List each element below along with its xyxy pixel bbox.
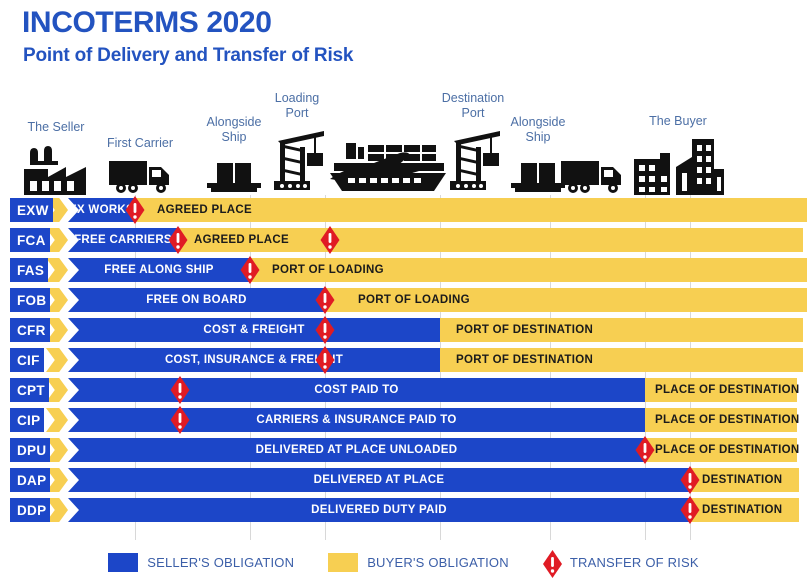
truck-icon bbox=[559, 155, 625, 195]
incoterm-row[interactable]: DDPDESTINATIONDELIVERED DUTY PAID bbox=[0, 495, 807, 525]
journey-node-label: AlongsideShip bbox=[203, 115, 265, 145]
incoterm-code: DDP bbox=[10, 498, 50, 522]
incoterm-row[interactable]: FCAAGREED PLACEFREE CARRIERS bbox=[0, 225, 807, 255]
transfer-of-risk-icon bbox=[321, 226, 340, 254]
buyer-obligation-segment: AGREED PLACE bbox=[178, 228, 803, 252]
dock-cargo-icon bbox=[203, 149, 265, 195]
incoterm-bar: PORT OF DESTINATIONCOST & FREIGHT bbox=[0, 318, 807, 342]
journey-node-label: AlongsideShip bbox=[507, 115, 569, 145]
incoterm-row[interactable]: DAPDESTINATIONDELIVERED AT PLACE bbox=[0, 465, 807, 495]
incoterm-code: CFR bbox=[10, 318, 50, 342]
journey-node bbox=[559, 155, 625, 195]
transfer-of-risk-icon bbox=[169, 226, 188, 254]
transfer-of-risk-icon bbox=[681, 496, 700, 524]
seller-segment-label: EX WORKS bbox=[69, 204, 134, 216]
legend-color-swatch bbox=[108, 553, 138, 572]
seller-obligation-segment: CARRIERS & INSURANCE PAID TO bbox=[68, 408, 645, 432]
buyer-segment-label: DESTINATION bbox=[702, 474, 782, 486]
buyer-obligation-segment: PLACE OF DESTINATION bbox=[645, 438, 797, 462]
buyer-segment-label: AGREED PLACE bbox=[157, 204, 252, 216]
seller-obligation-segment: COST PAID TO bbox=[68, 378, 645, 402]
journey-node-label: DestinationPort bbox=[438, 91, 508, 121]
incoterm-code: DAP bbox=[10, 468, 50, 492]
incoterm-bar: PLACE OF DESTINATIONCARRIERS & INSURANCE… bbox=[0, 408, 807, 432]
transfer-of-risk-icon bbox=[171, 406, 190, 434]
legend-item: BUYER'S OBLIGATION bbox=[328, 553, 509, 572]
container-ship-icon bbox=[328, 137, 448, 195]
transfer-of-risk-icon bbox=[316, 346, 335, 374]
truck-icon bbox=[107, 155, 173, 195]
incoterm-row[interactable]: FASPORT OF LOADINGFREE ALONG SHIP bbox=[0, 255, 807, 285]
buyer-segment-label: PLACE OF DESTINATION bbox=[655, 414, 799, 426]
journey-node: DestinationPort bbox=[438, 91, 508, 195]
legend: SELLER'S OBLIGATIONBUYER'S OBLIGATION TR… bbox=[0, 548, 807, 576]
incoterm-code: CIF bbox=[10, 348, 44, 372]
seller-obligation-segment: DELIVERED AT PLACE bbox=[68, 468, 690, 492]
seller-segment-label: FREE ON BOARD bbox=[146, 294, 246, 306]
incoterm-row[interactable]: FOBPORT OF LOADINGFREE ON BOARD bbox=[0, 285, 807, 315]
legend-item: TRANSFER OF RISK bbox=[543, 550, 699, 574]
incoterm-code: DPU bbox=[10, 438, 50, 462]
seller-obligation-segment: COST & FREIGHT bbox=[68, 318, 440, 342]
seller-obligation-segment: FREE ON BOARD bbox=[68, 288, 325, 312]
seller-obligation-segment: FREE ALONG SHIP bbox=[68, 258, 250, 282]
port-crane-icon bbox=[438, 125, 508, 195]
incoterm-bar: AGREED PLACEEX WORKS bbox=[0, 198, 807, 222]
journey-node-label: The Buyer bbox=[630, 114, 726, 129]
incoterm-bar: PORT OF LOADINGFREE ALONG SHIP bbox=[0, 258, 807, 282]
buyer-obligation-segment: PORT OF LOADING bbox=[250, 258, 807, 282]
buyer-obligation-segment: DESTINATION bbox=[690, 498, 799, 522]
buyer-segment-label: PLACE OF DESTINATION bbox=[655, 384, 799, 396]
incoterm-row[interactable]: CIFPORT OF DESTINATIONCOST, INSURANCE & … bbox=[0, 345, 807, 375]
buyer-obligation-segment: PLACE OF DESTINATION bbox=[645, 408, 797, 432]
transfer-of-risk-icon bbox=[636, 436, 655, 464]
buyer-obligation-segment: PORT OF DESTINATION bbox=[440, 318, 803, 342]
journey-node: AlongsideShip bbox=[203, 115, 265, 195]
buildings-icon bbox=[630, 133, 726, 195]
page-subtitle: Point of Delivery and Transfer of Risk bbox=[23, 45, 353, 67]
incoterm-code: FAS bbox=[10, 258, 48, 282]
factory-icon bbox=[18, 139, 94, 195]
seller-obligation-segment: DELIVERED DUTY PAID bbox=[68, 498, 690, 522]
page-title: INCOTERMS 2020 bbox=[22, 6, 271, 40]
incoterm-bar: AGREED PLACEFREE CARRIERS bbox=[0, 228, 807, 252]
journey-node-label: LoadingPort bbox=[262, 91, 332, 121]
journey-node-label: First Carrier bbox=[107, 136, 173, 151]
seller-obligation-segment: FREE CARRIERS bbox=[68, 228, 178, 252]
incoterm-code: CIP bbox=[10, 408, 44, 432]
incoterm-code: FCA bbox=[10, 228, 50, 252]
journey-node bbox=[328, 137, 448, 195]
buyer-segment-label: PLACE OF DESTINATION bbox=[655, 444, 799, 456]
journey-icon-band: The Seller First Carrier AlongsideShip L… bbox=[0, 85, 807, 195]
buyer-obligation-segment: PLACE OF DESTINATION bbox=[645, 378, 797, 402]
incoterm-row[interactable]: EXWAGREED PLACEEX WORKS bbox=[0, 195, 807, 225]
incoterm-bar: PLACE OF DESTINATIONCOST PAID TO bbox=[0, 378, 807, 402]
seller-segment-label: DELIVERED AT PLACE bbox=[314, 474, 445, 486]
incoterm-row[interactable]: DPUPLACE OF DESTINATIONDELIVERED AT PLAC… bbox=[0, 435, 807, 465]
incoterm-bar: PLACE OF DESTINATIONDELIVERED AT PLACE U… bbox=[0, 438, 807, 462]
legend-label: BUYER'S OBLIGATION bbox=[367, 555, 509, 570]
transfer-of-risk-icon bbox=[171, 376, 190, 404]
seller-segment-label: FREE ALONG SHIP bbox=[104, 264, 214, 276]
journey-node: First Carrier bbox=[107, 136, 173, 195]
transfer-of-risk-icon bbox=[316, 286, 335, 314]
seller-obligation-segment: COST, INSURANCE & FREIGHT bbox=[68, 348, 440, 372]
journey-node: The Seller bbox=[18, 120, 94, 195]
incoterm-bar: PORT OF DESTINATIONCOST, INSURANCE & FRE… bbox=[0, 348, 807, 372]
legend-label: SELLER'S OBLIGATION bbox=[147, 555, 294, 570]
seller-obligation-segment: DELIVERED AT PLACE UNLOADED bbox=[68, 438, 645, 462]
seller-segment-label: DELIVERED AT PLACE UNLOADED bbox=[256, 444, 458, 456]
incoterm-code: EXW bbox=[10, 198, 53, 222]
buyer-obligation-segment: PORT OF LOADING bbox=[325, 288, 807, 312]
incoterm-bar: PORT OF LOADINGFREE ON BOARD bbox=[0, 288, 807, 312]
buyer-obligation-segment: DESTINATION bbox=[690, 468, 799, 492]
journey-node-label: The Seller bbox=[18, 120, 94, 135]
seller-segment-label: DELIVERED DUTY PAID bbox=[311, 504, 447, 516]
transfer-of-risk-icon bbox=[126, 196, 145, 224]
seller-segment-label: COST & FREIGHT bbox=[203, 324, 304, 336]
buyer-segment-label: PORT OF DESTINATION bbox=[456, 354, 593, 366]
journey-node: The Buyer bbox=[630, 114, 726, 195]
buyer-segment-label: PORT OF LOADING bbox=[358, 294, 470, 306]
seller-segment-label: CARRIERS & INSURANCE PAID TO bbox=[256, 414, 456, 426]
transfer-of-risk-icon bbox=[316, 316, 335, 344]
seller-segment-label: FREE CARRIERS bbox=[74, 234, 172, 246]
legend-item: SELLER'S OBLIGATION bbox=[108, 553, 294, 572]
transfer-of-risk-icon bbox=[681, 466, 700, 494]
incoterm-code: CPT bbox=[10, 378, 49, 402]
legend-color-swatch bbox=[328, 553, 358, 572]
seller-segment-label: COST PAID TO bbox=[314, 384, 398, 396]
buyer-segment-label: PORT OF LOADING bbox=[272, 264, 384, 276]
buyer-segment-label: AGREED PLACE bbox=[194, 234, 289, 246]
transfer-of-risk-icon bbox=[543, 550, 562, 574]
legend-label: TRANSFER OF RISK bbox=[570, 555, 699, 570]
incoterm-row[interactable]: CPTPLACE OF DESTINATIONCOST PAID TO bbox=[0, 375, 807, 405]
buyer-obligation-segment: AGREED PLACE bbox=[135, 198, 807, 222]
incoterm-row[interactable]: CIPPLACE OF DESTINATIONCARRIERS & INSURA… bbox=[0, 405, 807, 435]
incoterm-code: FOB bbox=[10, 288, 50, 312]
transfer-of-risk-icon bbox=[241, 256, 260, 284]
buyer-obligation-segment: PORT OF DESTINATION bbox=[440, 348, 803, 372]
buyer-segment-label: DESTINATION bbox=[702, 504, 782, 516]
buyer-segment-label: PORT OF DESTINATION bbox=[456, 324, 593, 336]
incoterm-row[interactable]: CFRPORT OF DESTINATIONCOST & FREIGHT bbox=[0, 315, 807, 345]
